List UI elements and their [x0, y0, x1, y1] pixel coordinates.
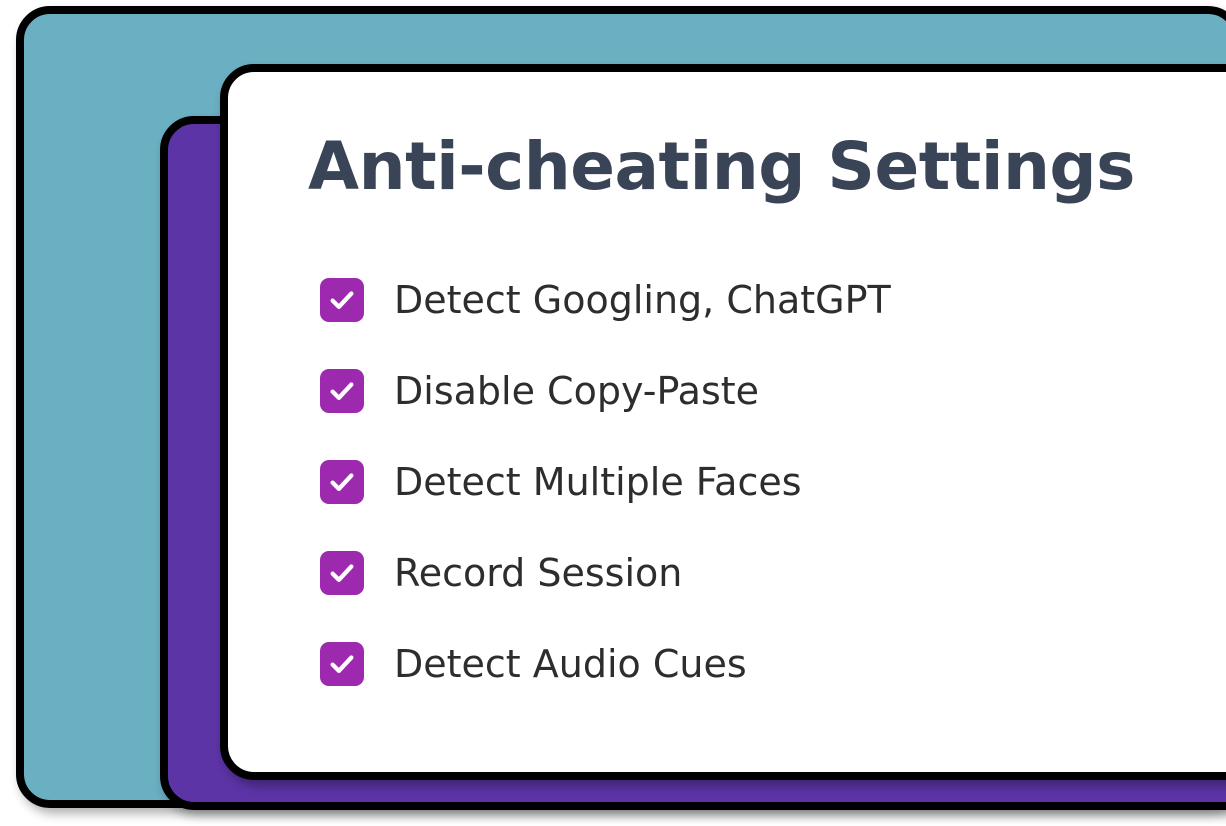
list-item[interactable]: Detect Googling, ChatGPT [320, 278, 1180, 322]
list-item[interactable]: Record Session [320, 551, 1180, 595]
page-title: Anti-cheating Settings [308, 134, 1135, 200]
list-item-label: Record Session [394, 554, 682, 592]
check-icon [327, 558, 357, 588]
settings-list: Detect Googling, ChatGPT Disable Copy-Pa… [320, 278, 1180, 686]
screenshot-stage: Anti-cheating Settings Detect Googling, … [0, 0, 1226, 826]
check-icon [327, 467, 357, 497]
checkbox-disable-copy-paste[interactable] [320, 369, 364, 413]
check-icon [327, 285, 357, 315]
checkbox-detect-audio-cues[interactable] [320, 642, 364, 686]
list-item-label: Detect Googling, ChatGPT [394, 281, 891, 319]
check-icon [327, 649, 357, 679]
checkbox-detect-multiple-faces[interactable] [320, 460, 364, 504]
list-item[interactable]: Detect Audio Cues [320, 642, 1180, 686]
settings-panel-content: Anti-cheating Settings Detect Googling, … [228, 72, 1226, 772]
list-item-label: Detect Audio Cues [394, 645, 747, 683]
list-item[interactable]: Disable Copy-Paste [320, 369, 1180, 413]
list-item-label: Detect Multiple Faces [394, 463, 802, 501]
checkbox-detect-googling-chatgpt[interactable] [320, 278, 364, 322]
list-item-label: Disable Copy-Paste [394, 372, 759, 410]
settings-panel-card: Anti-cheating Settings Detect Googling, … [220, 64, 1226, 780]
list-item[interactable]: Detect Multiple Faces [320, 460, 1180, 504]
check-icon [327, 376, 357, 406]
checkbox-record-session[interactable] [320, 551, 364, 595]
